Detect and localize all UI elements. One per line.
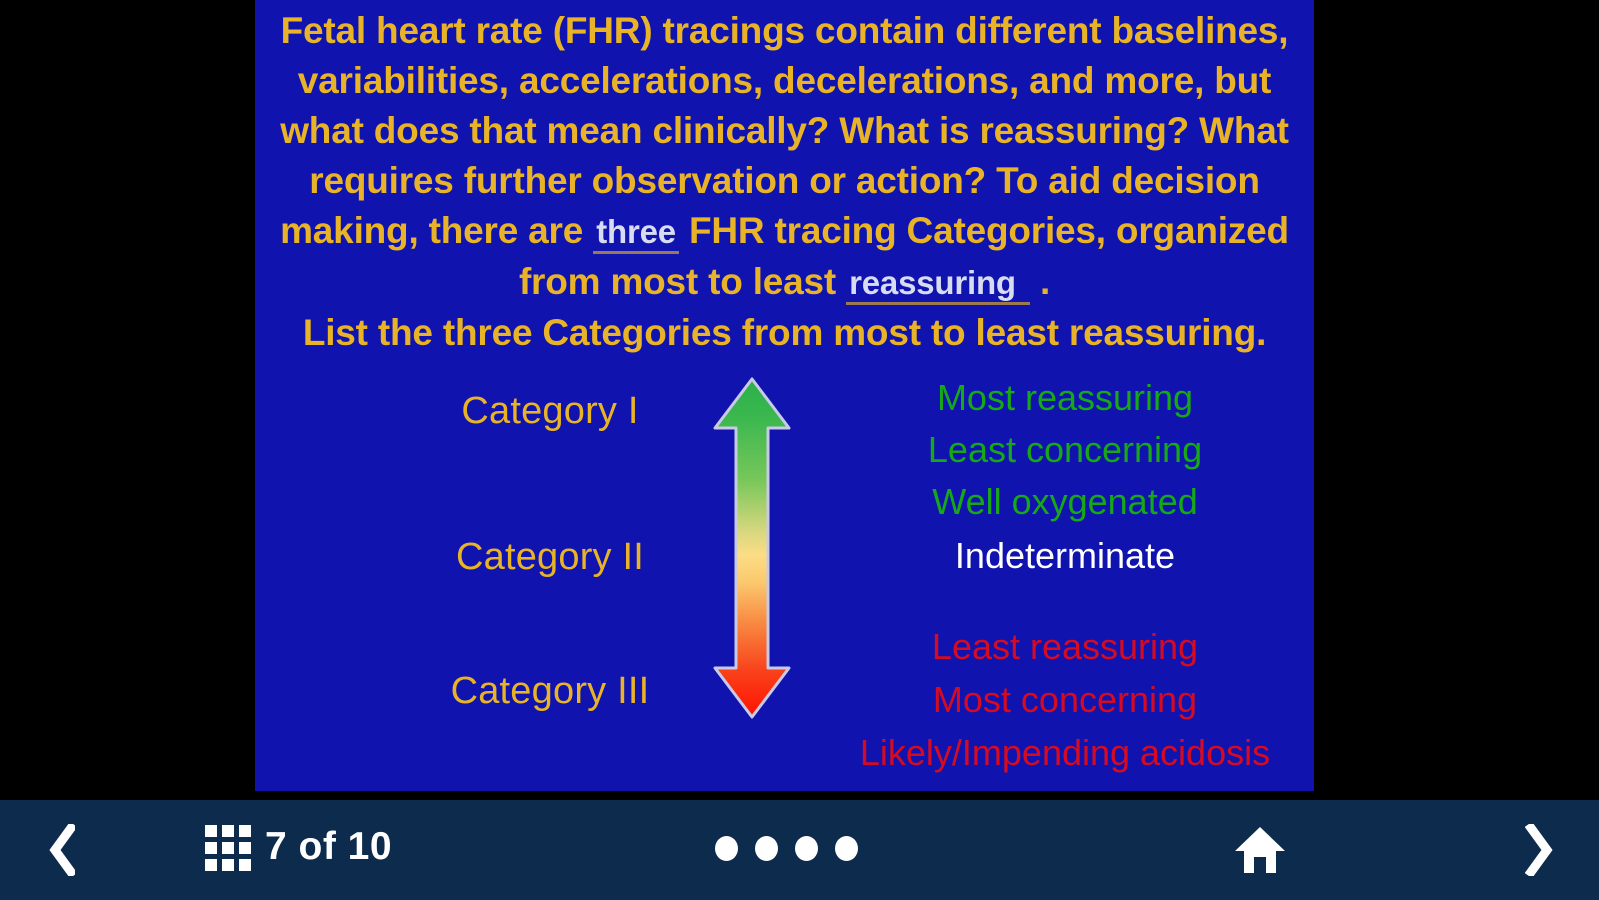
descriptor-line: Most reassuring [815, 372, 1314, 424]
prompt-text-part-3: . [1030, 261, 1050, 302]
descriptor-group-category-2: Indeterminate [815, 530, 1314, 582]
progress-dot[interactable] [835, 836, 858, 861]
progress-dot[interactable] [715, 836, 738, 861]
category-label-1: Category I [405, 390, 695, 433]
previous-slide-button[interactable] [20, 805, 100, 895]
descriptor-group-category-1: Most reassuring Least concerning Well ox… [815, 372, 1314, 528]
category-label-3: Category III [405, 670, 695, 713]
prompt-text-part-4: List the three Categories from most to l… [263, 308, 1306, 358]
home-icon [1233, 825, 1287, 875]
next-slide-button[interactable] [1500, 805, 1580, 895]
slide-canvas: Fetal heart rate (FHR) tracings contain … [255, 0, 1314, 791]
thumbnail-pager[interactable]: 7 of 10 [205, 808, 392, 888]
progress-dots[interactable] [715, 808, 858, 888]
progress-dot[interactable] [795, 836, 818, 861]
prompt-paragraph: Fetal heart rate (FHR) tracings contain … [263, 6, 1306, 358]
double-headed-gradient-arrow-icon [710, 376, 794, 720]
descriptor-line: Least reassuring [815, 620, 1314, 673]
descriptor-line: Likely/Impending acidosis [815, 726, 1314, 779]
descriptor-line: Most concerning [815, 673, 1314, 726]
answer-area: Category I Category II Category III [255, 372, 1314, 782]
page-indicator-text: 7 of 10 [265, 827, 392, 869]
descriptor-line: Indeterminate [815, 530, 1314, 582]
home-button[interactable] [1220, 805, 1300, 895]
category-label-2: Category II [405, 536, 695, 579]
chevron-left-icon [45, 824, 75, 876]
blank-answer-reassuring[interactable]: reassuring [846, 264, 1030, 305]
slide-player: Fetal heart rate (FHR) tracings contain … [0, 0, 1599, 900]
blank-answer-three[interactable]: three [593, 213, 679, 254]
descriptor-group-category-3: Least reassuring Most concerning Likely/… [815, 620, 1314, 779]
descriptor-line: Well oxygenated [815, 476, 1314, 528]
chevron-right-icon [1525, 824, 1555, 876]
progress-dot[interactable] [755, 836, 778, 861]
grid-icon[interactable] [205, 825, 251, 871]
descriptor-line: Least concerning [815, 424, 1314, 476]
slide-stage: Fetal heart rate (FHR) tracings contain … [0, 0, 1599, 792]
